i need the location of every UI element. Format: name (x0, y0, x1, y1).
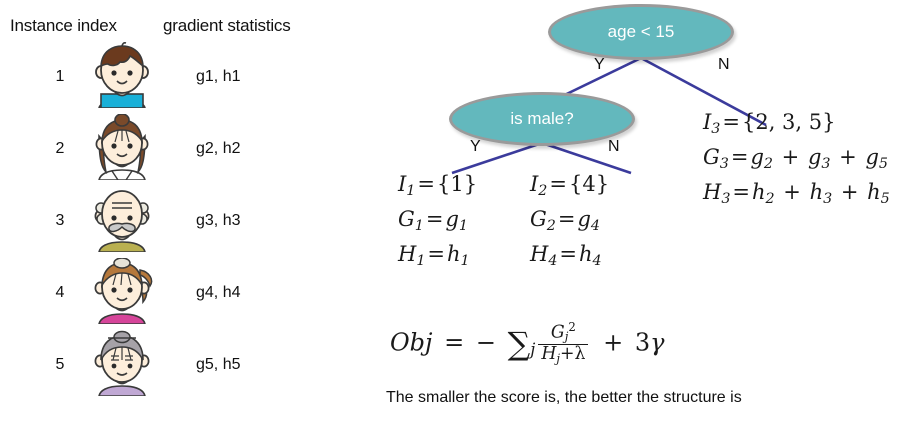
leaf-left-I: I1={1} (398, 170, 477, 205)
tree-node-is-male-split-label: is male? (510, 109, 573, 129)
table-row-index-1: 1 (46, 68, 74, 86)
column-header-instance-index: Instance index (10, 16, 117, 36)
objective-fraction: Gj2Hj+λ (538, 321, 588, 365)
column-header-gradient-statistics: gradient statistics (163, 16, 291, 36)
leaf-middle-G: G2=g4 (530, 205, 609, 240)
table-row-stats-1: g1, h1 (196, 68, 240, 86)
girl-ponytail-pink-avatar (88, 258, 156, 324)
leaf-middle-H: H4=h4 (530, 240, 609, 275)
table-row-stats-2: g2, h2 (196, 140, 240, 158)
summation-symbol: ∑ (508, 326, 531, 362)
objective-formula: Obj = − ∑jGj2Hj+λ + 3γ (390, 322, 664, 366)
old-man-mustache-avatar (88, 186, 156, 252)
tree-node-age-split[interactable]: age < 15 (548, 4, 734, 60)
table-row-stats-3: g3, h3 (196, 212, 240, 230)
table-row-index-3: 3 (46, 212, 74, 230)
leaf-left-G: G1=g1 (398, 205, 477, 240)
edge-label-root-no: N (718, 56, 730, 74)
leaf-middle-I: I2={4} (530, 170, 609, 205)
table-row-index-5: 5 (46, 356, 74, 374)
edge-label-male-yes: Y (470, 138, 481, 156)
leaf-left-H: H1=h1 (398, 240, 477, 275)
leaf-right-G-terms: g2 + g3 + g5 (750, 145, 888, 169)
leaf-stats-left: I1={1} G1=g1 H1=h1 (398, 170, 477, 275)
table-row-index-2: 2 (46, 140, 74, 158)
leaf-stats-right: I3={2, 3, 5} G3=g2 + g3 + g5 H3=h2 + h3 … (703, 108, 890, 213)
leaf-right-I: I3={2, 3, 5} (703, 108, 890, 143)
caption-text: The smaller the score is, the better the… (386, 389, 742, 407)
leaf-stats-middle: I2={4} G2=g4 H4=h4 (530, 170, 609, 275)
leaf-right-H-terms: h2 + h3 + h5 (752, 180, 890, 204)
table-row-stats-4: g4, h4 (196, 284, 240, 302)
edge-label-root-yes: Y (594, 56, 605, 74)
edge-male-yes (452, 143, 542, 173)
table-row-stats-5: g5, h5 (196, 356, 240, 374)
boy-teal-shirt-avatar (88, 42, 156, 108)
leaf-right-G: G3=g2 + g3 + g5 (703, 143, 890, 178)
edge-label-male-no: N (608, 138, 620, 156)
girl-brown-hair-avatar (88, 114, 156, 180)
old-woman-gray-hair-avatar (88, 330, 156, 396)
table-row-index-4: 4 (46, 284, 74, 302)
tree-node-age-split-label: age < 15 (608, 22, 675, 42)
xgboost-tree-structure-slide: Instance index gradient statistics docum… (0, 0, 920, 421)
leaf-right-H: H3=h2 + h3 + h5 (703, 178, 890, 213)
